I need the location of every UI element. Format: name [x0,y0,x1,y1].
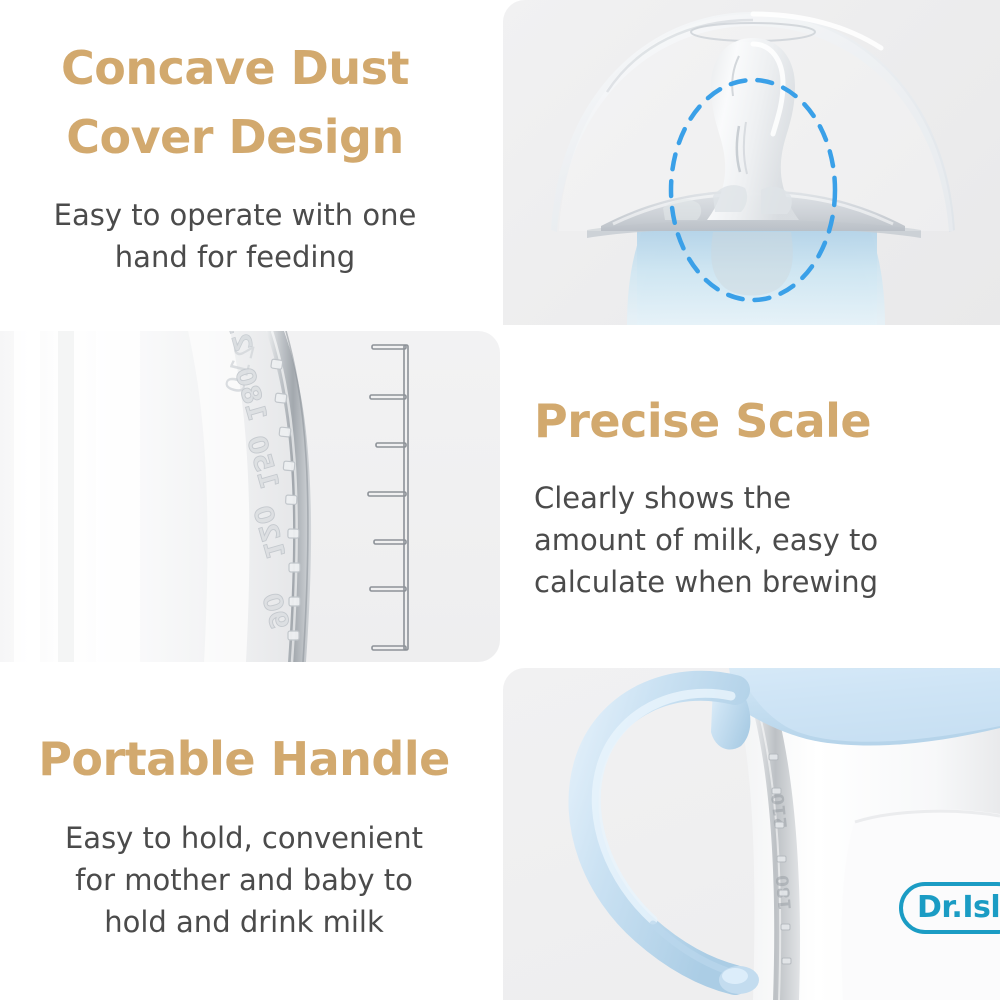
feature-title-precise-scale: Precise Scale [534,388,974,455]
feature-title-portable-handle: Portable Handle [14,726,474,793]
feature-block-dust-cover: Concave Dust Cover Design Easy to operat… [0,34,470,278]
ruler-diagram [368,345,408,650]
feature-title-dust-cover: Concave Dust Cover Design [0,34,470,172]
feature-block-precise-scale: Precise Scale Clearly shows the amount o… [534,388,974,603]
dust-cover-illustration [503,0,1000,325]
scale-illustration: 210 210 180 150 120 90 [0,331,500,662]
feature-description-precise-scale: Clearly shows the amount of milk, easy t… [534,477,974,603]
image-panel-precise-scale: 210 210 180 150 120 90 [0,331,500,662]
svg-text:Dr.Isl: Dr.Isl [917,890,1000,925]
image-panel-portable-handle: 210 180 [503,668,1000,1000]
infographic-canvas: Concave Dust Cover Design Easy to operat… [0,0,1000,1000]
feature-block-portable-handle: Portable Handle Easy to hold, convenient… [14,726,474,943]
feature-description-portable-handle: Easy to hold, convenient for mother and … [14,817,474,943]
image-panel-dust-cover [503,0,1000,325]
handle-illustration: 210 180 [503,668,1000,1000]
feature-description-dust-cover: Easy to operate with one hand for feedin… [0,194,470,278]
